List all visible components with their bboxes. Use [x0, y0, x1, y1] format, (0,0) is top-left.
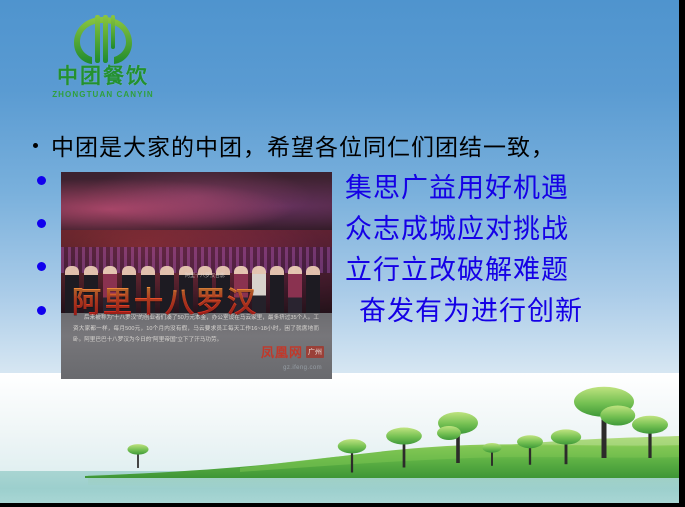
- landscape-illustration: [0, 373, 679, 503]
- embedded-photo: 阿里十八罗汉合影 阿里十八罗汉 后来被称为“十八罗汉”的创业者们凑了50万元本金…: [61, 172, 332, 379]
- logo-pinyin-name: ZHONGTUAN CANYIN: [44, 90, 162, 99]
- photo-scene: 阿里十八罗汉合影 阿里十八罗汉 后来被称为“十八罗汉”的创业者们凑了50万元本金…: [61, 172, 332, 379]
- slogan-block: 集思广益用好机遇 众志成城应对挑战 立行立改破解难题 奋发有为进行创新: [345, 168, 645, 332]
- photo-overlay-caption: 阿里十八罗汉合影: [185, 272, 225, 279]
- heading-bullet-icon: [33, 143, 38, 148]
- company-logo: 中团餐饮 ZHONGTUAN CANYIN: [44, 14, 162, 106]
- watermark-city: 广州: [306, 346, 324, 358]
- bullet-icon-3: [37, 262, 46, 271]
- presentation-slide: 中团餐饮 ZHONGTUAN CANYIN 中团是大家的中团，希望各位同仁们团结…: [0, 0, 682, 506]
- slogan-line-1: 集思广益用好机遇: [345, 168, 645, 209]
- zhongtuan-emblem-icon: [70, 14, 136, 66]
- landscape-svg: [0, 373, 679, 503]
- page-title: 中团是大家的中团，希望各位同仁们团结一致，: [51, 128, 555, 162]
- bullet-icon-4: [37, 306, 46, 315]
- slogan-line-4: 奋发有为进行创新: [345, 291, 645, 332]
- photo-backdrop-screen: [61, 172, 332, 234]
- logo-chinese-name: 中团餐饮: [44, 64, 162, 88]
- watermark-brand: 凤凰网: [261, 342, 303, 361]
- heading-bullet-line: 中团是大家的中团，希望各位同仁们团结一致，: [33, 128, 653, 162]
- watermark-url: gz.ifeng.com: [283, 365, 322, 371]
- bullet-icon-2: [37, 219, 46, 228]
- slogan-line-3: 立行立改破解难题: [345, 250, 645, 291]
- photo-watermark: 凤凰网 广州: [261, 342, 324, 361]
- slogan-line-2: 众志成城应对挑战: [345, 209, 645, 250]
- bullet-icon-1: [37, 176, 46, 185]
